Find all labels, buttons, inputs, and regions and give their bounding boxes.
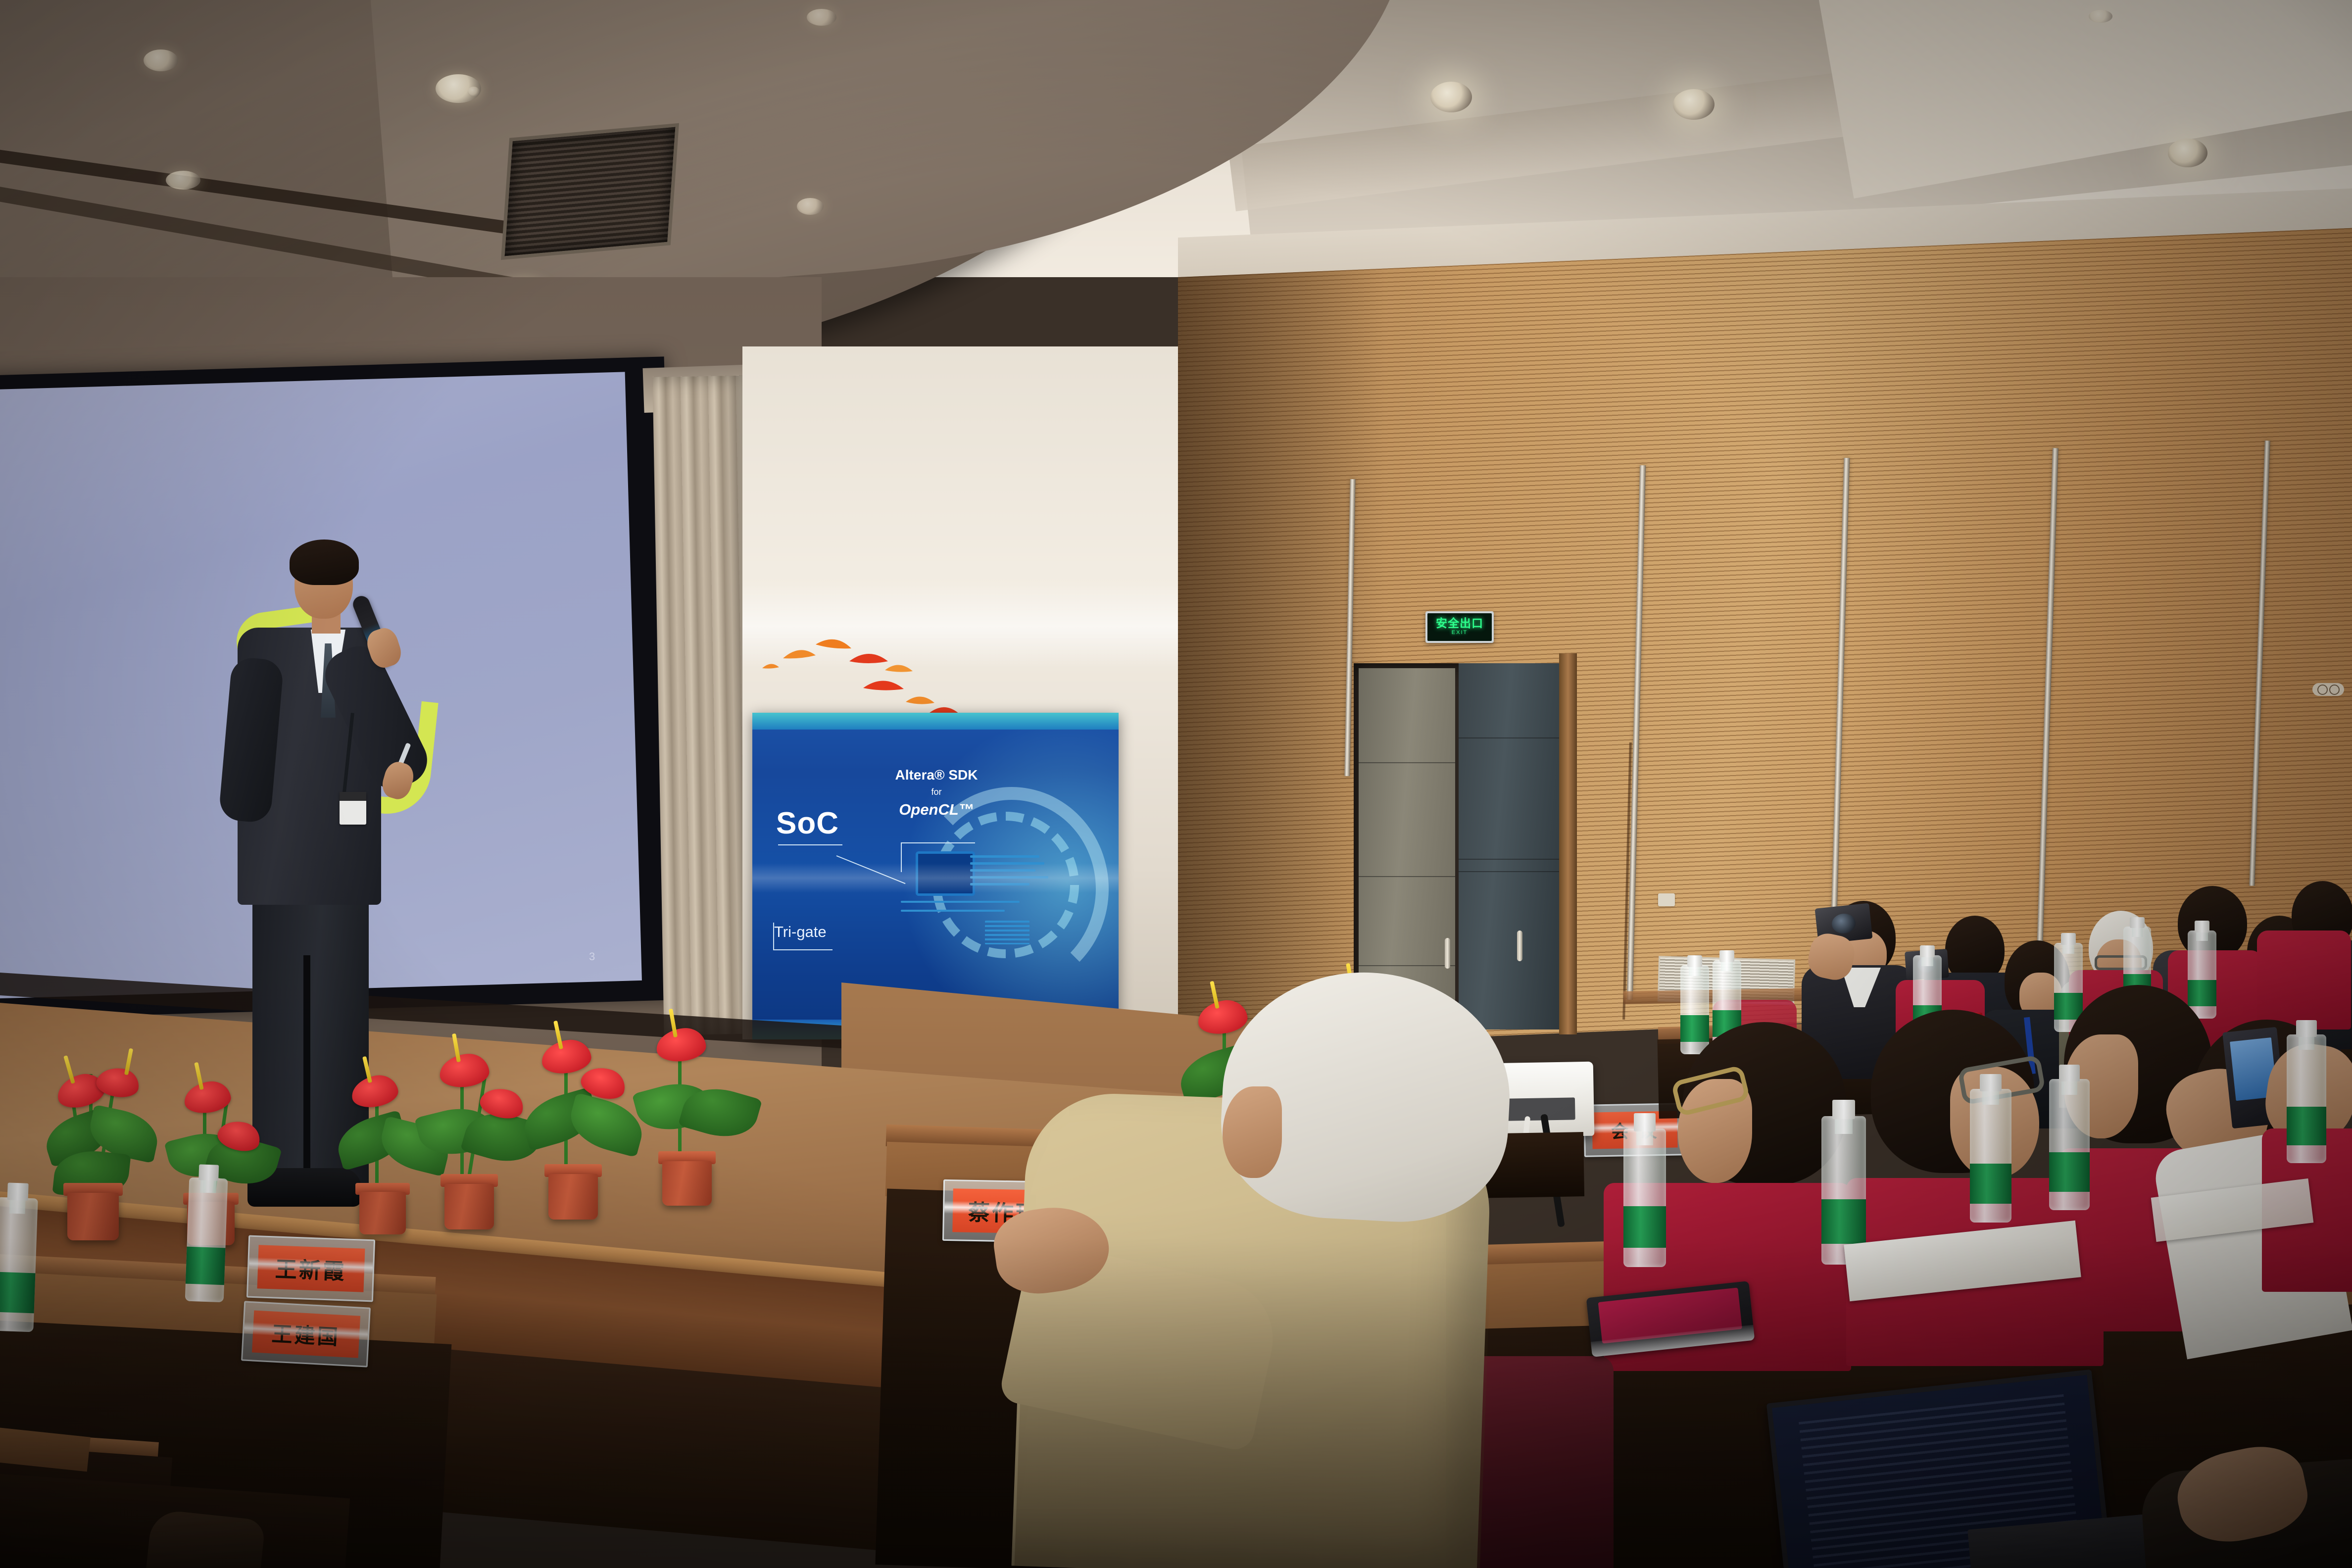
water-bottle[interactable] [2287,1034,2326,1163]
anthurium-plant [614,1000,772,1208]
altera-opencl-poster: SoC Altera® SDK for OpenCL™ Tri-gate [752,713,1119,1039]
water-bottle[interactable] [2188,931,2216,1019]
ceiling-downlight [807,9,836,26]
water-bottle[interactable] [2049,1079,2090,1210]
foreground-man-ear [1223,1086,1282,1178]
water-bottle[interactable] [185,1177,228,1303]
ceiling-downlight [2168,139,2207,167]
ceiling-downlight [1673,89,1715,120]
exit-sign-chinese: 安全出口 [1436,618,1483,629]
conference-hall-photo: 3 G [0,0,2352,1568]
ceiling-downlight [797,198,824,215]
ceiling-downlight [1430,82,1472,112]
ceiling-downlight [166,171,200,190]
presenter-hair [290,539,359,585]
no-phone-icon [2329,685,2340,695]
poster-label-opencl: OpenCL™ [887,801,986,819]
name-placard: 王建国 [241,1301,371,1367]
exit-sign: 安全出口 EXIT [1425,611,1494,643]
water-bottle[interactable] [1821,1116,1866,1265]
poster-trace [970,855,1039,858]
wall-switch-plate[interactable] [1658,893,1675,906]
poster-label-trigate: Tri-gate [774,923,827,941]
door-handle-right[interactable] [1517,931,1522,961]
ceiling-downlight [468,87,480,97]
ceiling-downlight [144,49,178,71]
poster-label-for: for [887,787,986,797]
water-bottle[interactable] [1623,1128,1666,1267]
door-jamb [1559,653,1577,1034]
seat-cover [2257,931,2351,1029]
exit-sign-english: EXIT [1452,629,1468,636]
poster-top-band [752,713,1119,730]
poster-label-sdk: Altera® SDK [887,767,986,783]
presenter-leg-split [303,955,310,1188]
slide-page-number: 3 [589,950,595,963]
poster-callout-line-tri [773,949,833,950]
poster-trace [985,921,1029,944]
ceiling-downlight [2089,10,2112,23]
no-smoking-sign [2312,683,2344,696]
door-right-leaf[interactable] [1459,663,1560,1029]
poster-trace [901,910,1005,912]
presenter-badge-header [340,792,366,801]
water-bottle[interactable] [1680,965,1709,1054]
poster-callout-line-opencl [901,842,975,843]
poster-callout-line-soc [778,844,842,845]
poster-trace [901,901,1020,903]
name-placard: 王新霞 [246,1235,375,1302]
poster-label-soc: SoC [776,806,839,841]
hvac-ceiling-vent [501,123,679,260]
water-bottle[interactable] [1970,1089,2011,1223]
poster-glare [752,863,1119,893]
water-bottle[interactable] [0,1197,38,1332]
no-smoking-icon [2317,685,2328,695]
